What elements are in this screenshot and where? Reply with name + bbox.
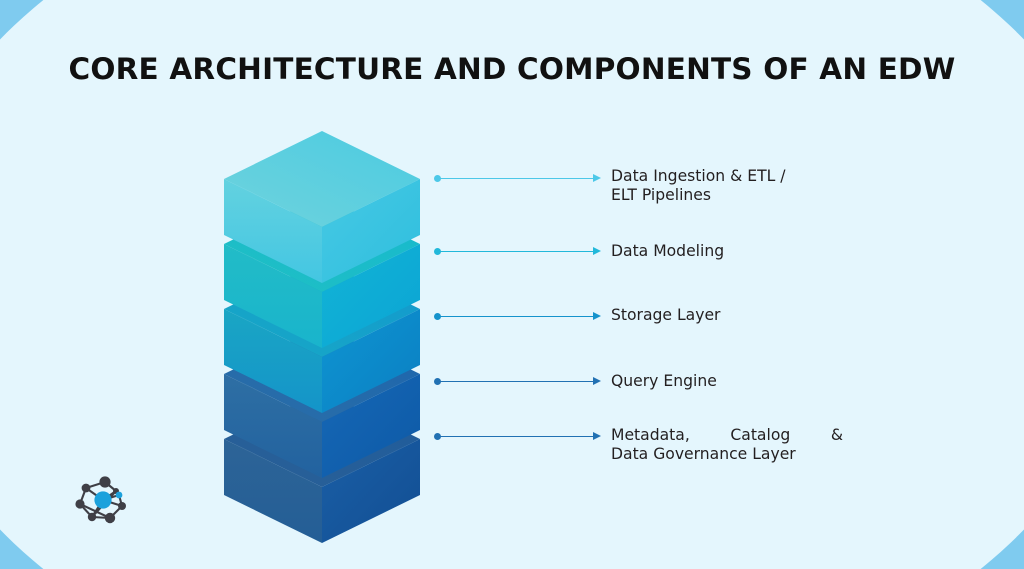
layer-label-5-line2: Data Governance Layer xyxy=(611,445,843,464)
logo-accent-node-small xyxy=(116,492,123,499)
connector-arrow-2 xyxy=(593,247,601,255)
connector-1 xyxy=(434,172,601,184)
layer-label-5-line1: Metadata, Catalog & xyxy=(611,426,843,445)
layer-label-1-line1: Data Ingestion & ETL / xyxy=(611,167,786,185)
page-title: CORE ARCHITECTURE AND COMPONENTS OF AN E… xyxy=(0,52,1024,86)
connector-arrow-4 xyxy=(593,377,601,385)
layer-label-4: Query Engine xyxy=(611,372,843,391)
connector-line-3 xyxy=(439,316,593,318)
layer-label-2: Data Modeling xyxy=(611,242,843,261)
connector-2 xyxy=(434,245,601,257)
connector-arrow-3 xyxy=(593,312,601,320)
layer-label-3-line1: Storage Layer xyxy=(611,306,720,324)
logo-accent-node xyxy=(94,491,111,508)
layer-label-1: Data Ingestion & ETL / ELT Pipelines xyxy=(611,167,843,205)
connector-line-2 xyxy=(439,251,593,253)
layer-label-5: Metadata, Catalog & Data Governance Laye… xyxy=(611,426,843,464)
connector-3 xyxy=(434,310,601,322)
connector-arrow-1 xyxy=(593,174,601,182)
layer-slab-1[interactable] xyxy=(222,126,422,246)
connector-5 xyxy=(434,430,601,442)
connector-4 xyxy=(434,375,601,387)
isometric-layer-stack xyxy=(222,126,432,486)
layer-label-3: Storage Layer xyxy=(611,306,843,325)
connector-line-4 xyxy=(439,381,593,383)
layer-label-2-line1: Data Modeling xyxy=(611,242,724,260)
network-nodes-logo[interactable] xyxy=(72,472,134,530)
connector-line-5 xyxy=(439,436,593,438)
slide-canvas: CORE ARCHITECTURE AND COMPONENTS OF AN E… xyxy=(0,0,1024,569)
layer-label-1-line2: ELT Pipelines xyxy=(611,186,843,205)
connector-line-1 xyxy=(439,178,593,180)
layer-label-4-line1: Query Engine xyxy=(611,372,717,390)
connector-arrow-5 xyxy=(593,432,601,440)
